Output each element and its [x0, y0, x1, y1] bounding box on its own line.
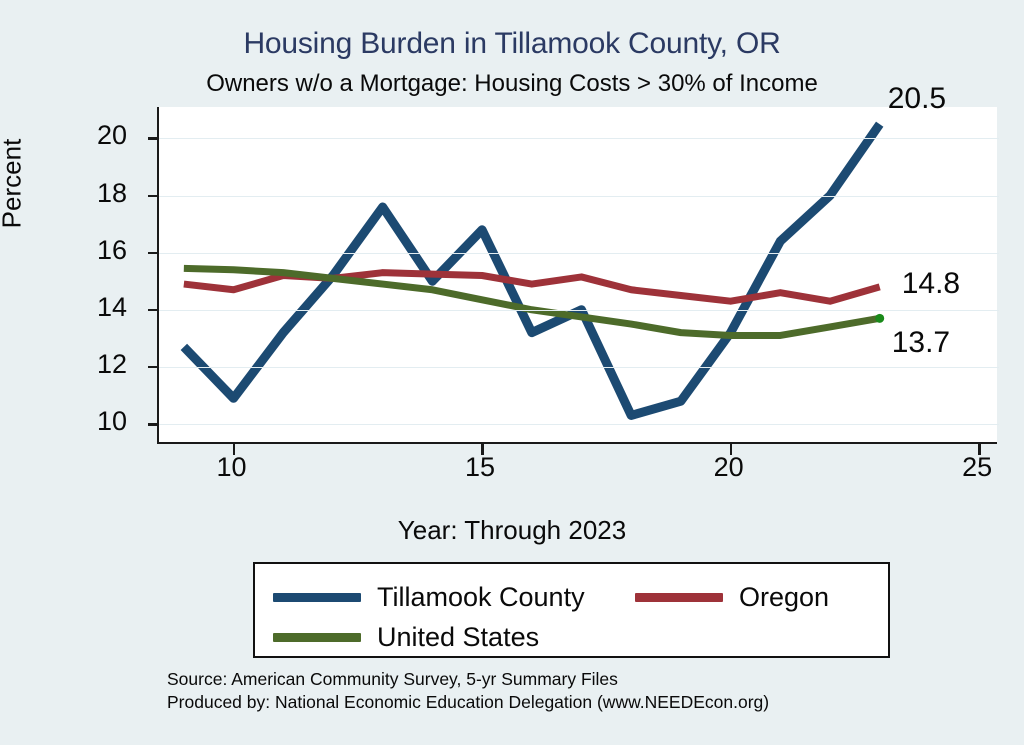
plot-area: [157, 107, 997, 444]
x-tick-label: 15: [435, 452, 525, 483]
series-endpoint-marker-united-states: [875, 314, 884, 323]
y-tick-mark: [148, 252, 159, 255]
gridline: [159, 196, 999, 197]
x-axis-label: Year: Through 2023: [0, 515, 1024, 546]
series-lines: [159, 107, 999, 444]
series-line-oregon: [184, 273, 880, 302]
y-tick-mark: [148, 195, 159, 198]
x-tick-label: 10: [187, 452, 277, 483]
legend-label-united-states: United States: [377, 622, 539, 653]
legend-label-tillamook-county: Tillamook County: [377, 582, 585, 613]
gridline: [159, 367, 999, 368]
end-label-united-states: 13.7: [892, 326, 950, 360]
source-line-2: Produced by: National Economic Education…: [167, 691, 769, 714]
end-label-tillamook-county: 20.5: [888, 82, 946, 116]
gridline: [159, 138, 999, 139]
y-tick-mark: [148, 137, 159, 140]
source-note: Source: American Community Survey, 5-yr …: [167, 668, 769, 714]
chart-figure: Housing Burden in Tillamook County, OR O…: [0, 0, 1024, 745]
x-tick-label: 25: [932, 452, 1022, 483]
legend-swatch-united-states: [273, 633, 361, 642]
legend-item-united-states: United States: [273, 622, 539, 653]
gridline: [159, 253, 999, 254]
legend-swatch-tillamook-county: [273, 593, 361, 602]
chart-title: Housing Burden in Tillamook County, OR: [0, 27, 1024, 61]
gridline: [159, 424, 999, 425]
y-tick-label: 12: [0, 349, 127, 380]
y-axis-label: Percent: [0, 84, 28, 284]
y-tick-mark: [148, 309, 159, 312]
legend-label-oregon: Oregon: [739, 582, 829, 613]
legend: Tillamook County Oregon United States: [253, 562, 890, 658]
y-tick-mark: [148, 423, 159, 426]
end-label-oregon: 14.8: [902, 267, 960, 301]
legend-item-oregon: Oregon: [635, 582, 829, 613]
chart-subtitle: Owners w/o a Mortgage: Housing Costs > 3…: [0, 70, 1024, 98]
y-tick-label: 14: [0, 292, 127, 323]
y-tick-label: 10: [0, 406, 127, 437]
legend-swatch-oregon: [635, 593, 723, 602]
legend-item-tillamook-county: Tillamook County: [273, 582, 585, 613]
gridline: [159, 310, 999, 311]
x-tick-label: 20: [684, 452, 774, 483]
y-tick-mark: [148, 366, 159, 369]
source-line-1: Source: American Community Survey, 5-yr …: [167, 668, 769, 691]
